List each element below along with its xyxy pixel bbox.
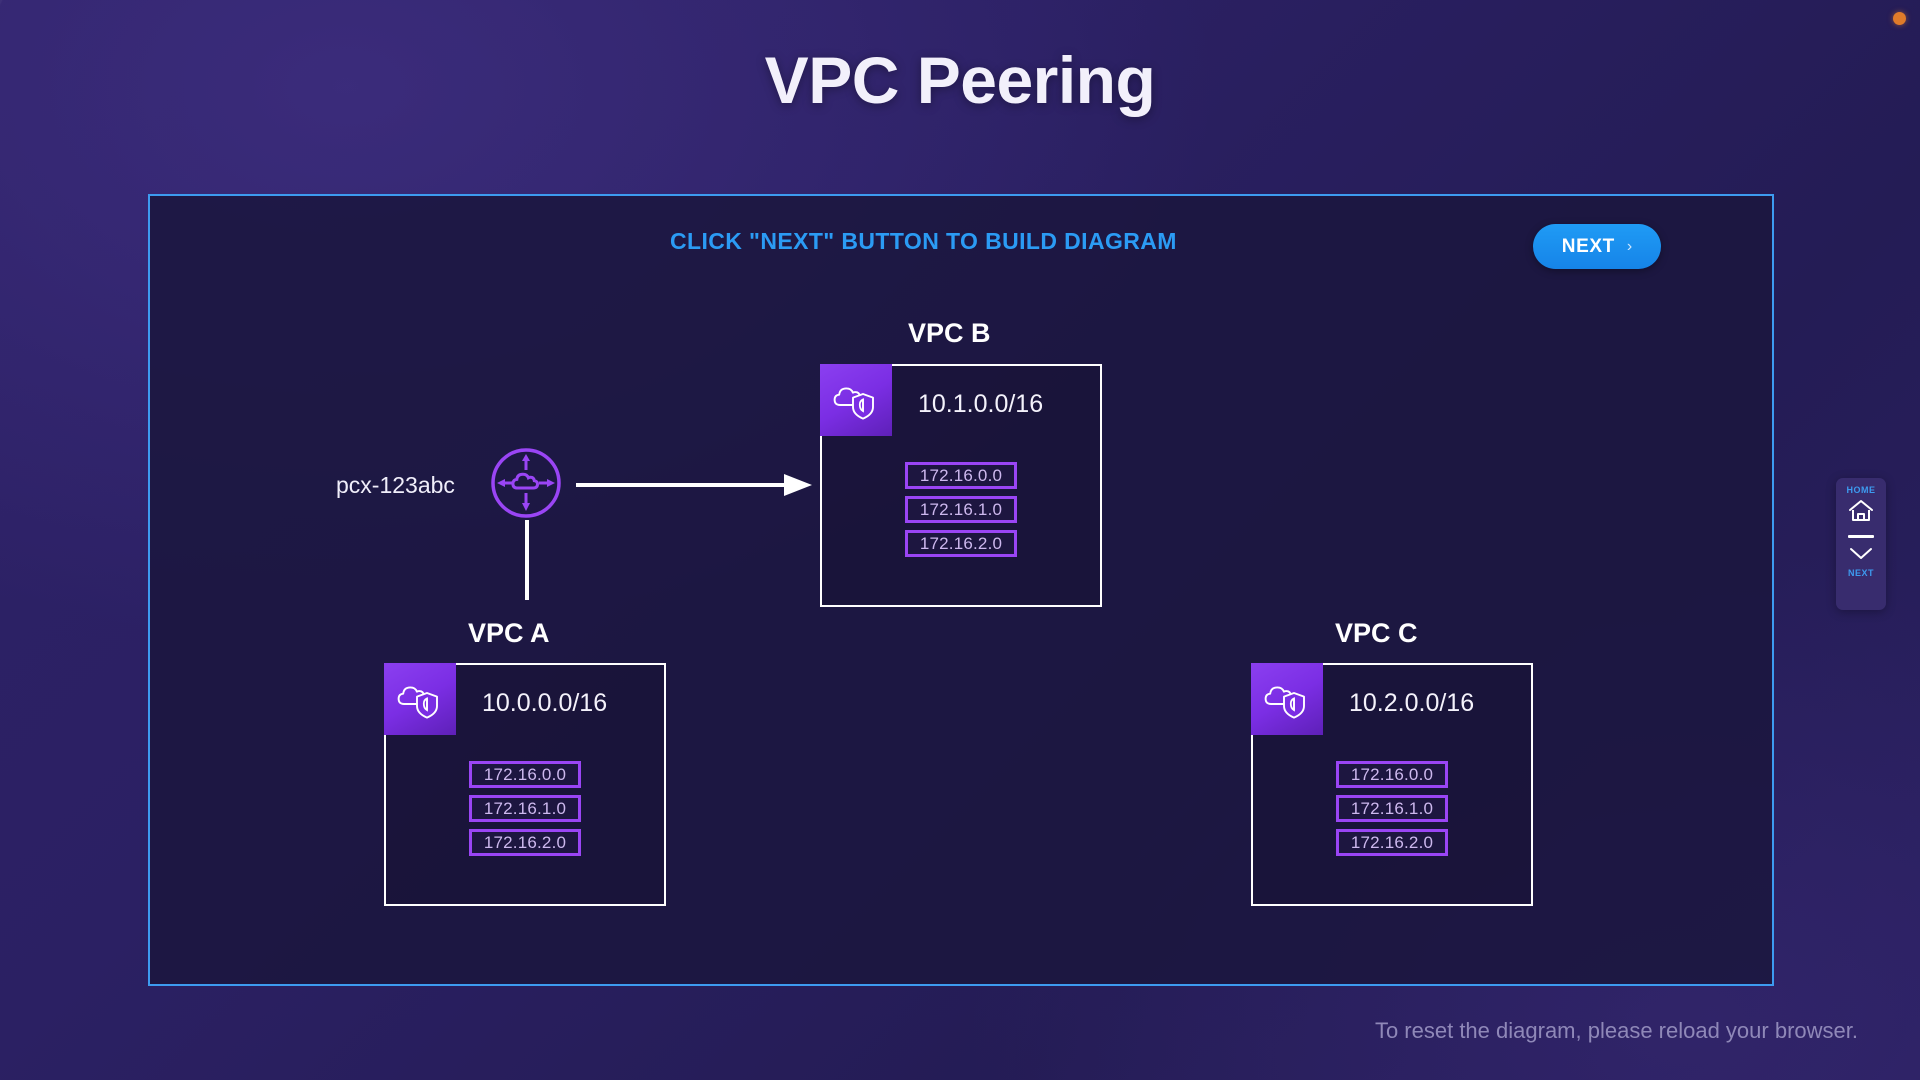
vpc-cloud-shield-icon [384,663,456,735]
next-button[interactable]: NEXT › [1533,224,1661,269]
chevron-right-icon: › [1627,239,1632,255]
subnet-badge[interactable]: 172.16.2.0 [905,530,1017,557]
subnet-badge[interactable]: 172.16.1.0 [905,496,1017,523]
vpc-cloud-shield-icon [820,364,892,436]
side-nav-next-label: NEXT [1848,568,1874,578]
vpc-a-box[interactable]: 10.0.0.0/16 172.16.0.0 172.16.1.0 172.16… [384,663,666,906]
subnet-badge[interactable]: 172.16.2.0 [469,829,581,856]
subnet-badge[interactable]: 172.16.0.0 [1336,761,1448,788]
peering-connection-label: pcx-123abc [336,472,455,499]
subnet-badge[interactable]: 172.16.0.0 [469,761,581,788]
status-indicator-dot [1893,12,1906,25]
side-nav-home-label: HOME [1847,485,1876,495]
vpc-a-title: VPC A [468,618,550,649]
subnet-badge[interactable]: 172.16.1.0 [1336,795,1448,822]
vpc-b-subnet-list: 172.16.0.0 172.16.1.0 172.16.2.0 [822,462,1100,557]
vpc-c-subnet-list: 172.16.0.0 172.16.1.0 172.16.2.0 [1253,761,1531,856]
vpc-a-cidr: 10.0.0.0/16 [482,689,607,718]
vpc-b-title: VPC B [908,318,991,349]
subnet-badge[interactable]: 172.16.0.0 [905,462,1017,489]
vpc-b-box[interactable]: 10.1.0.0/16 172.16.0.0 172.16.1.0 172.16… [820,364,1102,607]
side-nav-divider [1848,535,1874,538]
page-title: VPC Peering [0,42,1920,118]
subnet-badge[interactable]: 172.16.1.0 [469,795,581,822]
reset-note: To reset the diagram, please reload your… [1375,1018,1858,1044]
vpc-c-title: VPC C [1335,618,1418,649]
home-icon[interactable] [1847,498,1875,528]
vpc-a-subnet-list: 172.16.0.0 172.16.1.0 172.16.2.0 [386,761,664,856]
stage-subtitle: CLICK "NEXT" BUTTON TO BUILD DIAGRAM [670,228,1177,255]
side-navigator: HOME NEXT [1836,478,1886,610]
vpc-c-cidr: 10.2.0.0/16 [1349,689,1474,718]
vpc-cloud-shield-icon [1251,663,1323,735]
vpc-peering-icon[interactable] [490,447,562,519]
subnet-badge[interactable]: 172.16.2.0 [1336,829,1448,856]
vpc-c-box[interactable]: 10.2.0.0/16 172.16.0.0 172.16.1.0 172.16… [1251,663,1533,906]
chevron-down-icon[interactable] [1847,545,1875,566]
vpc-b-cidr: 10.1.0.0/16 [918,390,1043,419]
next-button-label: NEXT [1562,236,1615,258]
